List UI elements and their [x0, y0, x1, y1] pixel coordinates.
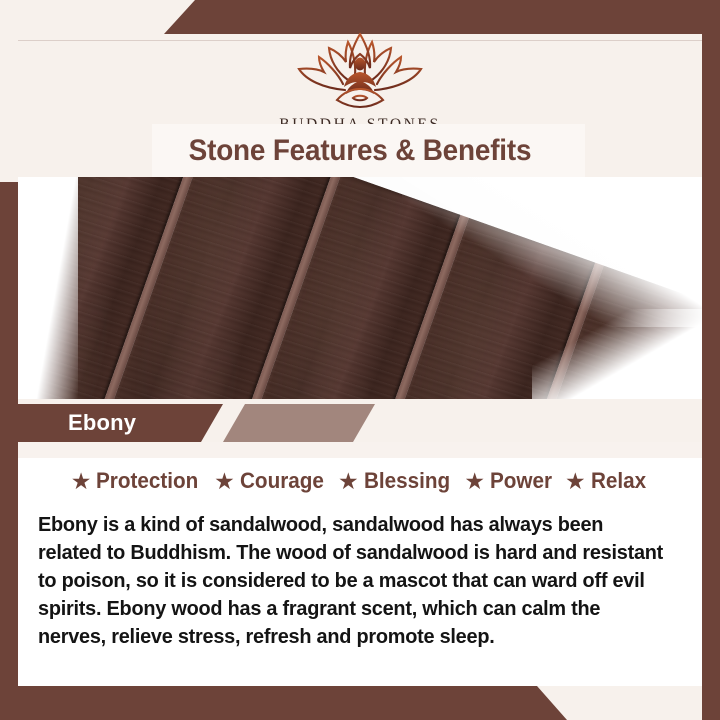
photo-backdrop-bottom-right	[532, 309, 702, 399]
star-icon: ★	[464, 470, 485, 493]
card-top-fade	[18, 442, 702, 458]
frame-bottom-band	[0, 686, 720, 720]
benefit-label: Blessing	[364, 468, 450, 494]
benefit-item-blessing: ★ Blessing	[338, 468, 455, 494]
infographic-card: BUDDHA STONES Stone Features & Benefits …	[0, 0, 720, 720]
star-icon: ★	[338, 470, 359, 493]
frame-left-strip	[0, 182, 18, 720]
benefit-label: Protection	[96, 468, 198, 494]
benefit-item-protection: ★ Protection	[71, 468, 205, 494]
photo-backdrop-left	[18, 177, 78, 399]
lotus-meditation-icon	[285, 24, 435, 112]
star-icon: ★	[214, 470, 235, 493]
product-label: Ebony	[68, 404, 136, 442]
brand-lockup: BUDDHA STONES	[0, 24, 720, 134]
benefit-label: Relax	[591, 468, 646, 494]
benefit-item-courage: ★ Courage	[214, 468, 329, 494]
benefits-row: ★ Protection ★ Courage ★ Blessing ★ Powe…	[18, 468, 702, 494]
benefit-label: Power	[490, 468, 552, 494]
benefit-label: Courage	[240, 468, 324, 494]
benefit-item-relax: ★ Relax	[565, 468, 649, 494]
content-card: ★ Protection ★ Courage ★ Blessing ★ Powe…	[18, 442, 702, 686]
product-description: Ebony is a kind of sandalwood, sandalwoo…	[38, 511, 665, 650]
star-icon: ★	[71, 470, 92, 493]
product-label-bar-tint	[223, 404, 375, 442]
star-icon: ★	[565, 470, 586, 493]
photo-backdrop-top-right	[402, 177, 702, 327]
header: BUDDHA STONES Stone Features & Benefits	[0, 0, 720, 178]
benefit-item-power: ★ Power	[464, 468, 556, 494]
product-photo	[18, 177, 702, 399]
page-title: Stone Features & Benefits	[25, 124, 695, 178]
